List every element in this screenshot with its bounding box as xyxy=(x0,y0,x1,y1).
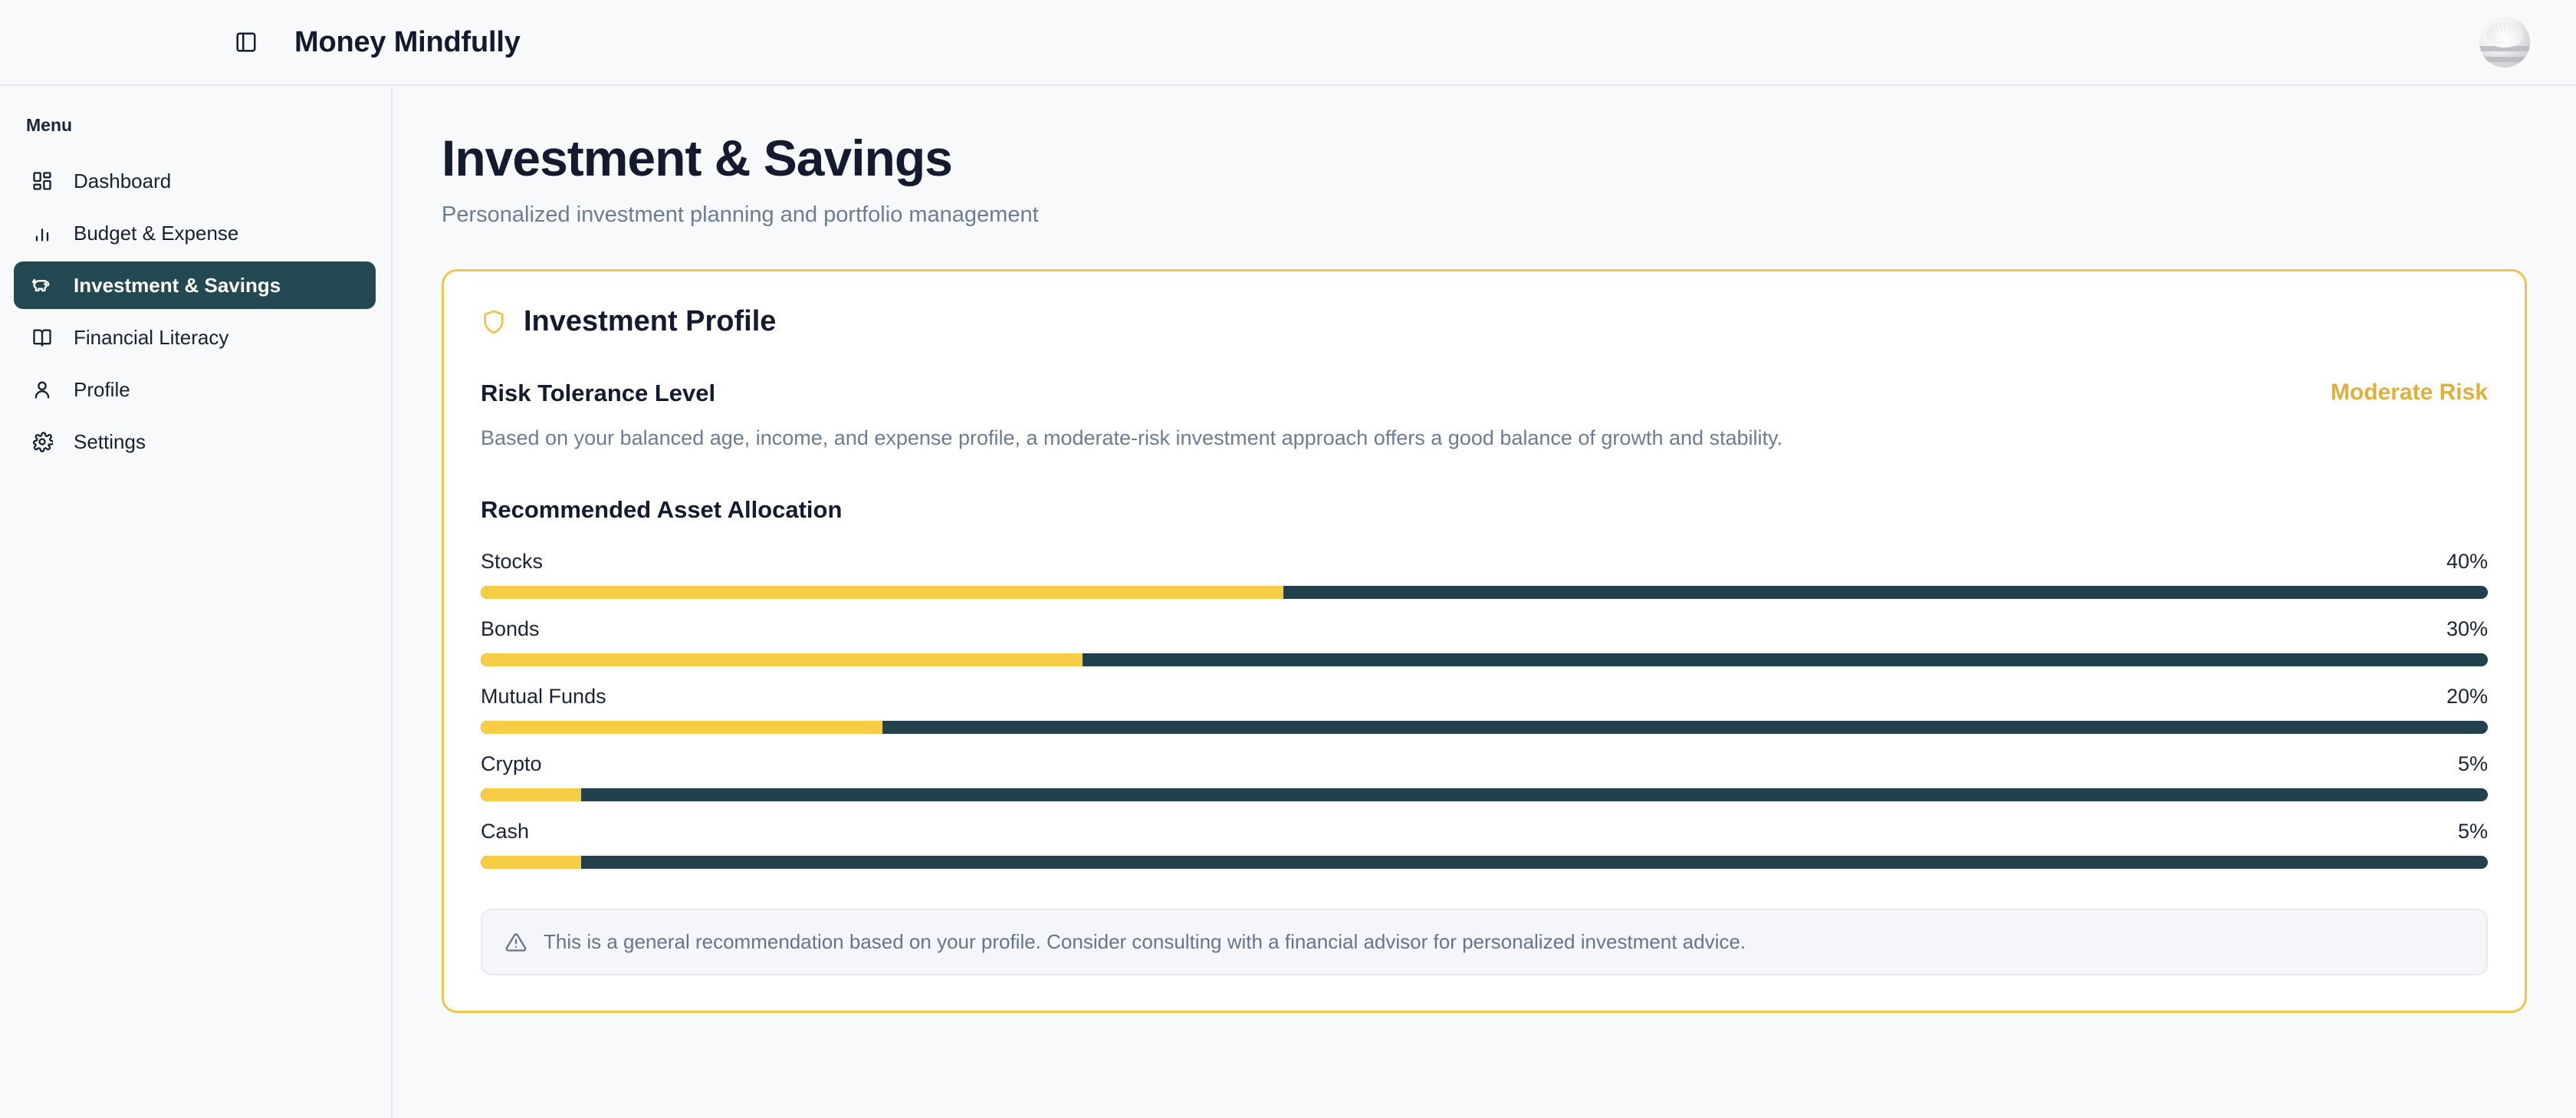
page-subtitle: Personalized investment planning and por… xyxy=(442,202,2527,228)
disclaimer-note: This is a general recommendation based o… xyxy=(481,909,2488,975)
menu-label: Menu xyxy=(0,109,391,153)
allocation-label: Stocks xyxy=(481,550,543,574)
progress-track xyxy=(481,788,2488,801)
allocation-row: Stocks 40% xyxy=(481,550,2488,599)
bar-chart-icon xyxy=(31,222,54,245)
allocation-row: Mutual Funds 20% xyxy=(481,685,2488,734)
investment-profile-card: Investment Profile Risk Tolerance Level … xyxy=(442,269,2527,1013)
risk-tolerance-row: Risk Tolerance Level Moderate Risk xyxy=(481,380,2488,407)
allocation-row-header: Bonds 30% xyxy=(481,617,2488,641)
app-body: Menu Dashboard Budget & Expense xyxy=(0,86,2576,1118)
allocation-row: Cash 5% xyxy=(481,820,2488,869)
allocation-value: 5% xyxy=(2458,752,2488,776)
user-icon xyxy=(31,378,54,401)
sidebar-item-budget-expense[interactable]: Budget & Expense xyxy=(14,209,376,257)
allocation-label: Crypto xyxy=(481,752,542,776)
card-title: Investment Profile xyxy=(524,305,776,338)
allocation-label: Bonds xyxy=(481,617,540,641)
allocation-bar-list: Stocks 40% Bonds 30% xyxy=(481,550,2488,869)
panel-left-icon[interactable] xyxy=(230,26,262,58)
sidebar-item-financial-literacy[interactable]: Financial Literacy xyxy=(14,314,376,361)
sidebar-item-dashboard[interactable]: Dashboard xyxy=(14,157,376,205)
progress-fill xyxy=(481,586,1283,599)
avatar[interactable] xyxy=(2479,17,2530,67)
layout-grid-icon xyxy=(31,169,54,192)
card-header: Investment Profile xyxy=(481,305,2488,338)
allocation-value: 30% xyxy=(2446,617,2488,641)
progress-fill xyxy=(481,653,1083,666)
risk-description: Based on your balanced age, income, and … xyxy=(481,424,2488,452)
sidebar-item-settings[interactable]: Settings xyxy=(14,418,376,465)
page-title: Investment & Savings xyxy=(442,129,2527,187)
allocation-value: 20% xyxy=(2446,685,2488,709)
allocation-row: Crypto 5% xyxy=(481,752,2488,801)
allocation-row-header: Stocks 40% xyxy=(481,550,2488,574)
progress-track xyxy=(481,721,2488,734)
shield-icon xyxy=(481,309,507,335)
warning-triangle-icon xyxy=(505,932,527,953)
gear-icon xyxy=(31,430,54,453)
progress-fill xyxy=(481,856,581,869)
allocation-row: Bonds 30% xyxy=(481,617,2488,666)
allocation-title: Recommended Asset Allocation xyxy=(481,496,2488,524)
risk-tolerance-title: Risk Tolerance Level xyxy=(481,380,715,407)
progress-track xyxy=(481,586,2488,599)
status-badge: Moderate Risk xyxy=(2331,380,2488,406)
allocation-label: Cash xyxy=(481,820,529,843)
progress-track xyxy=(481,856,2488,869)
piggy-bank-icon xyxy=(31,274,54,297)
allocation-row-header: Crypto 5% xyxy=(481,752,2488,776)
progress-fill xyxy=(481,788,581,801)
sidebar-item-label: Budget & Expense xyxy=(74,222,238,245)
allocation-row-header: Mutual Funds 20% xyxy=(481,685,2488,709)
progress-fill xyxy=(481,721,882,734)
avatar-band xyxy=(2479,57,2530,62)
allocation-value: 5% xyxy=(2458,820,2488,843)
sidebar-item-investment-savings[interactable]: Investment & Savings xyxy=(14,261,376,309)
allocation-row-header: Cash 5% xyxy=(481,820,2488,843)
sidebar-item-label: Settings xyxy=(74,430,146,454)
sidebar-item-profile[interactable]: Profile xyxy=(14,366,376,413)
app-title: Money Mindfully xyxy=(294,26,521,59)
sidebar: Menu Dashboard Budget & Expense xyxy=(0,86,393,1118)
sidebar-item-label: Dashboard xyxy=(74,169,171,193)
app-root: Money Mindfully Menu Dashboard xyxy=(0,0,2576,1118)
allocation-label: Mutual Funds xyxy=(481,685,606,709)
disclaimer-text: This is a general recommendation based o… xyxy=(544,930,1746,954)
sidebar-item-label: Investment & Savings xyxy=(74,274,281,298)
sidebar-item-label: Profile xyxy=(74,378,130,402)
top-bar: Money Mindfully xyxy=(0,0,2576,86)
sidebar-item-label: Financial Literacy xyxy=(74,326,228,350)
avatar-dome xyxy=(2486,21,2523,48)
progress-track xyxy=(481,653,2488,666)
allocation-value: 40% xyxy=(2446,550,2488,574)
main-content: Investment & Savings Personalized invest… xyxy=(393,86,2576,1118)
book-open-icon xyxy=(31,326,54,349)
